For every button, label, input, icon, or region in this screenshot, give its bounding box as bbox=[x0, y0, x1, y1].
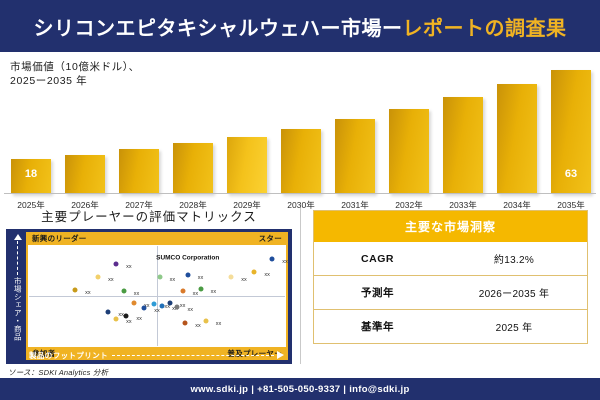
matrix-data-point bbox=[183, 321, 188, 326]
matrix-data-point bbox=[160, 304, 165, 309]
arrow-up-icon bbox=[14, 234, 22, 240]
insights-row: 基準年2025 年 bbox=[314, 309, 587, 343]
matrix-data-point bbox=[142, 306, 147, 311]
matrix-data-point bbox=[114, 262, 119, 267]
x-axis-tick-label: 2032年 bbox=[388, 199, 430, 211]
x-axis-tick-label: 2034年 bbox=[496, 199, 538, 211]
insights-row-key: 基準年 bbox=[314, 319, 441, 334]
matrix-data-point bbox=[185, 273, 190, 278]
x-axis-tick-label: 2028年 bbox=[172, 199, 214, 211]
bar: 18 bbox=[11, 159, 51, 194]
bar bbox=[389, 109, 429, 194]
bar bbox=[173, 143, 213, 194]
x-axis-tick-label: 2025年 bbox=[10, 199, 52, 211]
matrix-data-point bbox=[180, 289, 185, 294]
insights-row: 予測年2026ー2035 年 bbox=[314, 275, 587, 309]
insights-row-value: 約13.2% bbox=[441, 251, 587, 266]
insights-row-key: CAGR bbox=[314, 253, 441, 265]
bar-item bbox=[496, 56, 538, 194]
bar bbox=[227, 137, 267, 194]
x-axis-tick-label: 2027年 bbox=[118, 199, 160, 211]
matrix-data-point-label: xx bbox=[108, 277, 114, 283]
matrix-data-point-label: xx bbox=[211, 289, 217, 295]
x-axis-tick-label: 2031年 bbox=[334, 199, 376, 211]
bar bbox=[335, 119, 375, 194]
x-axis-tick-label: 2030年 bbox=[280, 199, 322, 211]
matrix-data-point bbox=[131, 301, 136, 306]
matrix-data-point bbox=[114, 317, 119, 322]
insights-table: 主要な市場洞察 CAGR約13.2%予測年2026ー2035 年基準年2025 … bbox=[313, 210, 588, 344]
matrix-data-point-label: xx bbox=[195, 323, 201, 329]
page-title-primary: シリコンエピタキシャルウェハー市場ー bbox=[34, 18, 403, 40]
bar-item bbox=[334, 56, 376, 194]
matrix-data-point-label: xx bbox=[170, 277, 176, 283]
insights-panel: 主要な市場洞察 CAGR約13.2%予測年2026ー2035 年基準年2025 … bbox=[301, 204, 600, 378]
matrix-data-point-label: xx bbox=[85, 290, 91, 296]
bar-value-label: 18 bbox=[11, 168, 51, 180]
page-header: シリコンエピタキシャルウェハー市場ーレポートの調査果 bbox=[0, 0, 600, 52]
x-axis-tick-label: 2026年 bbox=[64, 199, 106, 211]
matrix-panel: 主要プレーヤーの評価マトリックス 市場シェア・商品 新興のリーダー スター SU… bbox=[0, 204, 300, 378]
featured-company-label: SUMCO Corporation bbox=[156, 255, 219, 262]
chart-subtitle: 市場価値（10億米ドル）、 2025ー2035 年 bbox=[10, 60, 140, 88]
bar bbox=[65, 155, 105, 194]
footer-contact-text: www.sdki.jp | +81-505-050-9337 | info@sd… bbox=[190, 384, 409, 395]
x-axis-tick-label: 2033年 bbox=[442, 199, 484, 211]
matrix-x-axis: 製品のフットプリント bbox=[9, 348, 288, 362]
matrix-y-axis: 市場シェア・商品 bbox=[9, 232, 26, 360]
matrix-data-point bbox=[229, 275, 234, 280]
bar-item bbox=[280, 56, 322, 194]
matrix-data-point-label: xx bbox=[136, 316, 142, 322]
quadrant-label-top-right: スター bbox=[259, 233, 282, 244]
bar-item bbox=[388, 56, 430, 194]
chart-x-axis-labels: 2025年2026年2027年2028年2029年2030年2031年2032年… bbox=[10, 199, 592, 211]
matrix-body: 新興のリーダー スター SUMCO Corporation xxxxxxxxxx… bbox=[26, 232, 288, 360]
matrix-data-point bbox=[121, 289, 126, 294]
quadrant-label-top-left: 新興のリーダー bbox=[32, 233, 87, 244]
insights-table-header: 主要な市場洞察 bbox=[314, 211, 587, 242]
bar-item: 63 bbox=[550, 56, 592, 194]
lower-content-area: 主要プレーヤーの評価マトリックス 市場シェア・商品 新興のリーダー スター SU… bbox=[0, 204, 600, 378]
page-title-accent: レポートの調査果 bbox=[403, 18, 567, 40]
matrix-data-point-label: xx bbox=[282, 259, 288, 265]
matrix-data-point-label: xx bbox=[264, 272, 270, 278]
bar bbox=[281, 129, 321, 194]
matrix-data-point bbox=[73, 288, 78, 293]
bar bbox=[497, 84, 537, 194]
matrix-data-point bbox=[203, 319, 208, 324]
matrix-y-axis-label: 市場シェア・商品 bbox=[14, 277, 22, 341]
matrix-data-point-label: xx bbox=[126, 264, 132, 270]
matrix-data-point bbox=[152, 302, 157, 307]
bar-item bbox=[226, 56, 268, 194]
bar-item bbox=[442, 56, 484, 194]
insights-row: CAGR約13.2% bbox=[314, 242, 587, 275]
bar bbox=[119, 149, 159, 194]
source-note: ソース：SDKI Analytics 分析 bbox=[6, 367, 292, 378]
y-axis-dashed-line bbox=[17, 241, 18, 275]
matrix-top-labels: 新興のリーダー スター bbox=[28, 232, 286, 245]
matrix-data-point bbox=[106, 310, 111, 315]
page-footer: www.sdki.jp | +81-505-050-9337 | info@sd… bbox=[0, 378, 600, 400]
market-value-bar-chart: 市場価値（10億米ドル）、 2025ー2035 年 1863 2025年2026… bbox=[0, 52, 600, 204]
matrix-data-point-label: xx bbox=[134, 291, 140, 297]
bar bbox=[443, 97, 483, 194]
insights-row-key: 予測年 bbox=[314, 285, 441, 300]
matrix-data-point bbox=[167, 301, 172, 306]
matrix-x-axis-label: 製品のフットプリント bbox=[29, 350, 108, 361]
x-axis-dashed-line bbox=[112, 355, 274, 356]
matrix-data-point bbox=[96, 275, 101, 280]
matrix-data-point-label: xx bbox=[198, 275, 204, 281]
insights-row-value: 2025 年 bbox=[441, 319, 587, 334]
matrix-data-point bbox=[157, 275, 162, 280]
matrix-data-point-label: xx bbox=[126, 319, 132, 325]
bar-value-label: 63 bbox=[551, 168, 591, 180]
evaluation-matrix: 市場シェア・商品 新興のリーダー スター SUMCO Corporation x… bbox=[6, 229, 292, 364]
matrix-data-point bbox=[198, 287, 203, 292]
insights-row-value: 2026ー2035 年 bbox=[441, 285, 587, 300]
arrow-right-icon bbox=[277, 351, 284, 359]
x-axis-tick-label: 2029年 bbox=[226, 199, 268, 211]
matrix-data-point bbox=[252, 270, 257, 275]
quadrant-horizontal-divider bbox=[29, 296, 285, 297]
matrix-data-point-label: xx bbox=[193, 291, 199, 297]
matrix-data-point-label: xx bbox=[216, 321, 222, 327]
matrix-plot-area: SUMCO Corporation xxxxxxxxxxxxxxxxxxxxxx… bbox=[28, 245, 286, 347]
matrix-data-point bbox=[270, 257, 275, 262]
chart-axis-line bbox=[4, 193, 596, 194]
insights-table-body: CAGR約13.2%予測年2026ー2035 年基準年2025 年 bbox=[314, 242, 587, 343]
matrix-data-point-label: xx bbox=[188, 307, 194, 313]
matrix-data-point-label: xx bbox=[154, 308, 160, 314]
matrix-data-point-label: xx bbox=[241, 277, 247, 283]
x-axis-tick-label: 2035年 bbox=[550, 199, 592, 211]
matrix-data-point bbox=[124, 314, 129, 319]
matrix-data-point bbox=[175, 305, 180, 310]
bar-item bbox=[172, 56, 214, 194]
page-title: シリコンエピタキシャルウェハー市場ーレポートの調査果 bbox=[34, 12, 567, 41]
bar: 63 bbox=[551, 70, 591, 194]
matrix-data-point-label: xx bbox=[180, 303, 186, 309]
